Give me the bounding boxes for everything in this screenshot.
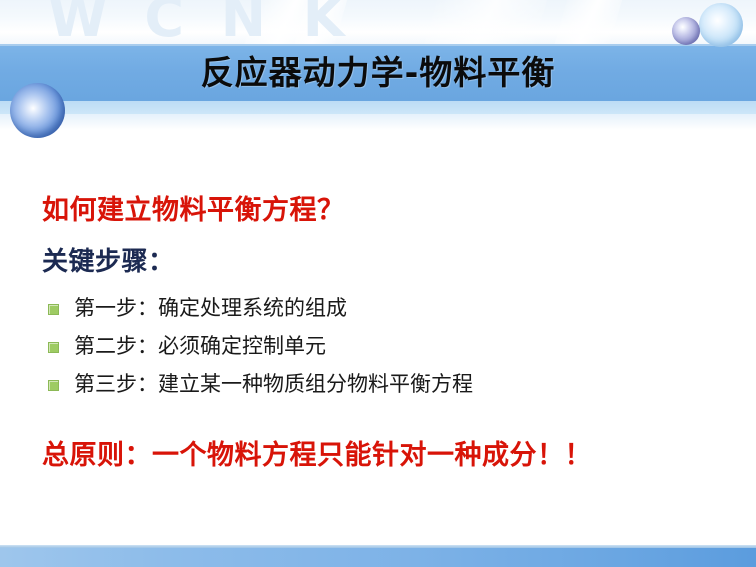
list-item-label: 第一步：确定处理系统的组成 — [74, 296, 347, 320]
header-top-wash: W C N K — [0, 0, 756, 46]
title-banner-light-band — [0, 101, 756, 114]
question-heading: 如何建立物料平衡方程？ — [42, 188, 345, 227]
list-item: 第二步：必须确定控制单元 — [46, 333, 706, 359]
list-item: 第一步：确定处理系统的组成 — [46, 295, 706, 321]
list-item-label: 第三步：建立某一种物质组分物料平衡方程 — [74, 372, 473, 396]
slide-body: 如何建立物料平衡方程？ 关键步骤： 第一步：确定处理系统的组成 第二步：必须确定… — [0, 145, 756, 545]
page-title: 反应器动力学-物料平衡 — [0, 52, 756, 94]
decorative-sphere-icon — [699, 3, 743, 47]
slide-header: W C N K 反应器动力学-物料平衡 — [0, 0, 756, 145]
list-item: 第三步：建立某一种物质组分物料平衡方程 — [46, 371, 706, 397]
watermark-text: W C N K — [48, 0, 354, 49]
square-bullet-icon — [48, 380, 59, 391]
decorative-sphere-icon — [672, 17, 700, 45]
square-bullet-icon — [48, 342, 59, 353]
section-subheading: 关键步骤： — [42, 241, 175, 278]
steps-list: 第一步：确定处理系统的组成 第二步：必须确定控制单元 第三步：建立某一种物质组分… — [46, 295, 706, 409]
slide-canvas: W C N K 反应器动力学-物料平衡 如何建立物料平衡方程？ 关键步骤： 第一… — [0, 0, 756, 567]
final-rule-text: 总原则：一个物料方程只能针对一种成分！！ — [42, 433, 592, 472]
footer-bar — [0, 548, 756, 567]
title-banner-fade — [0, 114, 756, 130]
square-bullet-icon — [48, 304, 59, 315]
list-item-label: 第二步：必须确定控制单元 — [74, 334, 326, 358]
